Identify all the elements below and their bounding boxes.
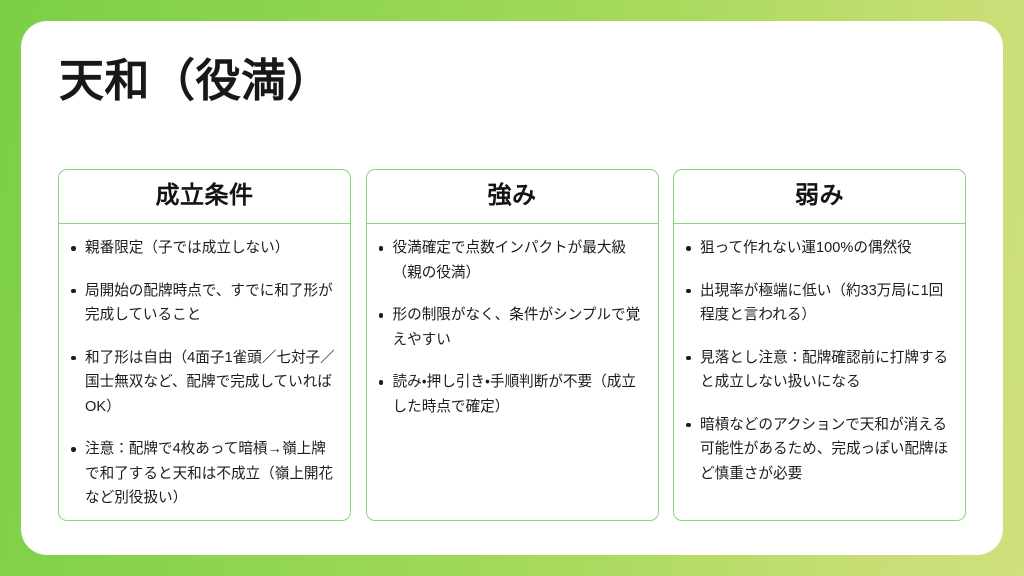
card-body-weaknesses: 狙って作れない運100%の偶然役 出現率が極端に低い（約33万局に1回程度と言わ…: [674, 224, 965, 520]
card-header-title: 弱み: [795, 183, 844, 209]
list-item: 狙って作れない運100%の偶然役: [680, 236, 955, 261]
card-header-strengths: 強み: [367, 170, 658, 224]
slide-root: 天和（役満） 成立条件 親番限定（子では成立しない） 局開始の配牌時点で、すでに…: [0, 0, 1024, 576]
list-item: 役満確定で点数インパクトが最大級（親の役満）: [373, 236, 648, 285]
list-item: 形の制限がなく、条件がシンプルで覚えやすい: [373, 303, 648, 352]
bullet-list: 親番限定（子では成立しない） 局開始の配牌時点で、すでに和了形が完成していること…: [65, 236, 340, 511]
slide-panel: 天和（役満） 成立条件 親番限定（子では成立しない） 局開始の配牌時点で、すでに…: [21, 21, 1003, 555]
list-item: 親番限定（子では成立しない）: [65, 236, 340, 261]
card-body-conditions: 親番限定（子では成立しない） 局開始の配牌時点で、すでに和了形が完成していること…: [59, 224, 350, 521]
card-header-weaknesses: 弱み: [674, 170, 965, 224]
card-conditions: 成立条件 親番限定（子では成立しない） 局開始の配牌時点で、すでに和了形が完成し…: [58, 169, 351, 521]
list-item: 見落とし注意：配牌確認前に打牌すると成立しない扱いになる: [680, 346, 955, 395]
card-strengths: 強み 役満確定で点数インパクトが最大級（親の役満） 形の制限がなく、条件がシンプ…: [366, 169, 659, 521]
list-item: 出現率が極端に低い（約33万局に1回程度と言われる）: [680, 279, 955, 328]
bullet-list: 狙って作れない運100%の偶然役 出現率が極端に低い（約33万局に1回程度と言わ…: [680, 236, 955, 486]
list-item: 暗槓などのアクションで天和が消える可能性があるため、完成っぽい配牌ほど慎重さが必…: [680, 413, 955, 487]
list-item: 読み・押し引き・手順判断が不要（成立した時点で確定）: [373, 370, 648, 419]
list-item: 局開始の配牌時点で、すでに和了形が完成していること: [65, 279, 340, 328]
page-title: 天和（役満）: [59, 54, 332, 108]
list-item: 注意：配牌で4枚あって暗槓→嶺上牌で和了すると天和は不成立（嶺上開花など別役扱い…: [65, 437, 340, 511]
card-header-conditions: 成立条件: [59, 170, 350, 224]
card-header-title: 成立条件: [156, 183, 254, 209]
bullet-list: 役満確定で点数インパクトが最大級（親の役満） 形の制限がなく、条件がシンプルで覚…: [373, 236, 648, 419]
list-item: 和了形は自由（4面子1雀頭／七対子／国士無双など、配牌で完成していればOK）: [65, 346, 340, 420]
card-body-strengths: 役満確定で点数インパクトが最大級（親の役満） 形の制限がなく、条件がシンプルで覚…: [367, 224, 658, 520]
card-weaknesses: 弱み 狙って作れない運100%の偶然役 出現率が極端に低い（約33万局に1回程度…: [673, 169, 966, 521]
card-header-title: 強み: [488, 183, 537, 209]
columns-row: 成立条件 親番限定（子では成立しない） 局開始の配牌時点で、すでに和了形が完成し…: [58, 169, 966, 521]
